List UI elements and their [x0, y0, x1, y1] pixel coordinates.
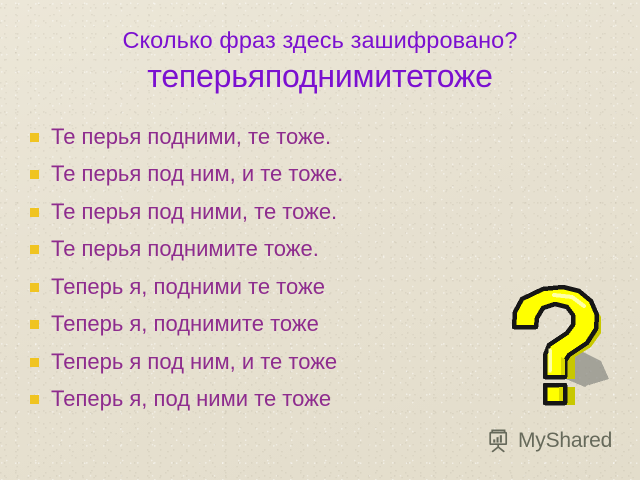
list-item-label: Те перья поднимите тоже.	[51, 236, 319, 262]
bullet-square-icon	[30, 283, 39, 292]
list-item: Теперь я, под ними те тоже	[30, 381, 500, 419]
myshared-watermark: MyShared	[487, 428, 612, 454]
bullet-square-icon	[30, 320, 39, 329]
list-item-label: Теперь я, поднимите тоже	[51, 311, 319, 337]
page-title-question: Сколько фраз здесь зашифровано?	[0, 26, 640, 54]
slide-canvas: Сколько фраз здесь зашифровано? теперьяп…	[0, 0, 640, 480]
list-item-label: Теперь я, под ними те тоже	[51, 386, 331, 412]
list-item: Те перья поднимите тоже.	[30, 231, 500, 269]
title-block: Сколько фраз здесь зашифровано? теперьяп…	[0, 26, 640, 96]
bullet-square-icon	[30, 395, 39, 404]
list-item: Те перья под ними, те тоже.	[30, 193, 500, 231]
bullet-square-icon	[30, 358, 39, 367]
list-item: Те перья под ним, и те тоже.	[30, 156, 500, 194]
list-item: Теперь я под ним, и те тоже	[30, 343, 500, 381]
bullet-square-icon	[30, 245, 39, 254]
presentation-chart-icon	[487, 428, 513, 454]
list-item: Теперь я, подними те тоже	[30, 268, 500, 306]
bullet-square-icon	[30, 208, 39, 217]
list-item: Теперь я, поднимите тоже	[30, 306, 500, 344]
bullet-square-icon	[30, 133, 39, 142]
list-item-label: Те перья под ним, и те тоже.	[51, 161, 343, 187]
list-item-label: Те перья под ними, те тоже.	[51, 199, 337, 225]
list-item-label: Те перья подними, те тоже.	[51, 124, 331, 150]
page-title-cipher-word: теперьяподнимитетоже	[0, 56, 640, 96]
list-item-label: Теперь я под ним, и те тоже	[51, 349, 337, 375]
phrase-list: Те перья подними, те тоже. Те перья под …	[30, 118, 500, 418]
question-mark-icon	[497, 283, 627, 407]
list-item: Те перья подними, те тоже.	[30, 118, 500, 156]
list-item-label: Теперь я, подними те тоже	[51, 274, 325, 300]
myshared-watermark-label: MyShared	[518, 429, 612, 453]
bullet-square-icon	[30, 170, 39, 179]
